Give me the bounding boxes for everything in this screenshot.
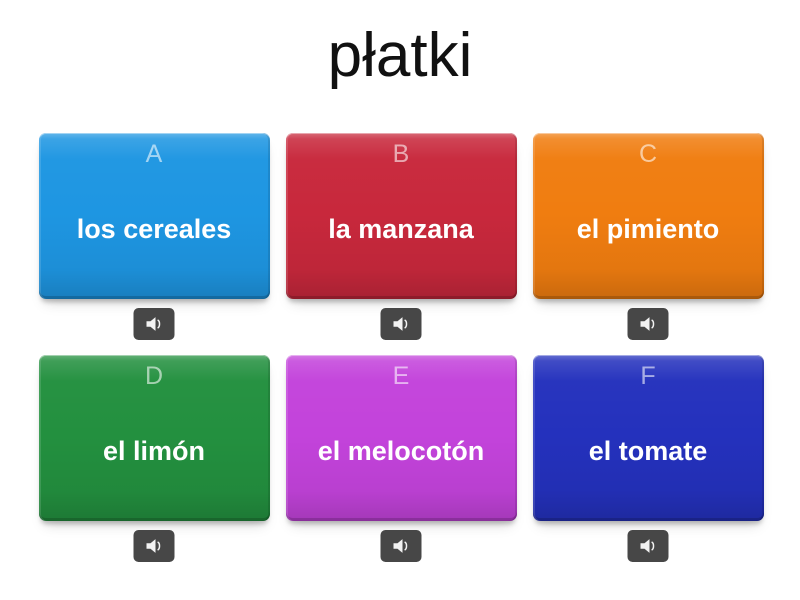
page-title: płatki [0,17,800,95]
answer-card-d[interactable]: D el limón [39,355,270,521]
answer-card-label: el limón [45,391,264,511]
answer-card-label: los cereales [45,169,264,289]
answer-card-a[interactable]: A los cereales [39,133,270,299]
speaker-icon [638,537,658,555]
answer-card-letter: A [39,139,270,169]
answer-card-f[interactable]: F el tomate [533,355,764,521]
answer-card-label: el pimiento [539,169,758,289]
answer-card-letter: F [533,361,764,391]
answer-card-cell-c: C el pimiento [525,133,771,346]
audio-play-button-b[interactable] [381,308,422,340]
answer-card-cell-b: B la manzana [278,133,524,346]
speaker-icon [638,315,658,333]
answer-card-cell-f: F el tomate [525,355,771,568]
answer-card-cell-e: E el melocotón [278,355,524,568]
answer-card-label: el tomate [539,391,758,511]
audio-play-button-a[interactable] [134,308,175,340]
speaker-icon [144,315,164,333]
answer-card-letter: E [286,361,517,391]
speaker-icon [391,315,411,333]
speaker-icon [144,537,164,555]
answer-card-e[interactable]: E el melocotón [286,355,517,521]
audio-play-button-f[interactable] [628,530,669,562]
answer-card-cell-a: A los cereales [31,133,277,346]
answer-card-cell-d: D el limón [31,355,277,568]
quiz-app: płatki A los cereales B la manzana [0,0,800,600]
answer-card-letter: D [39,361,270,391]
answer-card-label: la manzana [292,169,511,289]
audio-play-button-c[interactable] [628,308,669,340]
answer-card-letter: C [533,139,764,169]
answer-card-c[interactable]: C el pimiento [533,133,764,299]
audio-play-button-e[interactable] [381,530,422,562]
answer-cards-grid: A los cereales B la manzana [31,133,771,568]
answer-card-label: el melocotón [292,391,511,511]
answer-card-letter: B [286,139,517,169]
answer-card-b[interactable]: B la manzana [286,133,517,299]
audio-play-button-d[interactable] [134,530,175,562]
speaker-icon [391,537,411,555]
